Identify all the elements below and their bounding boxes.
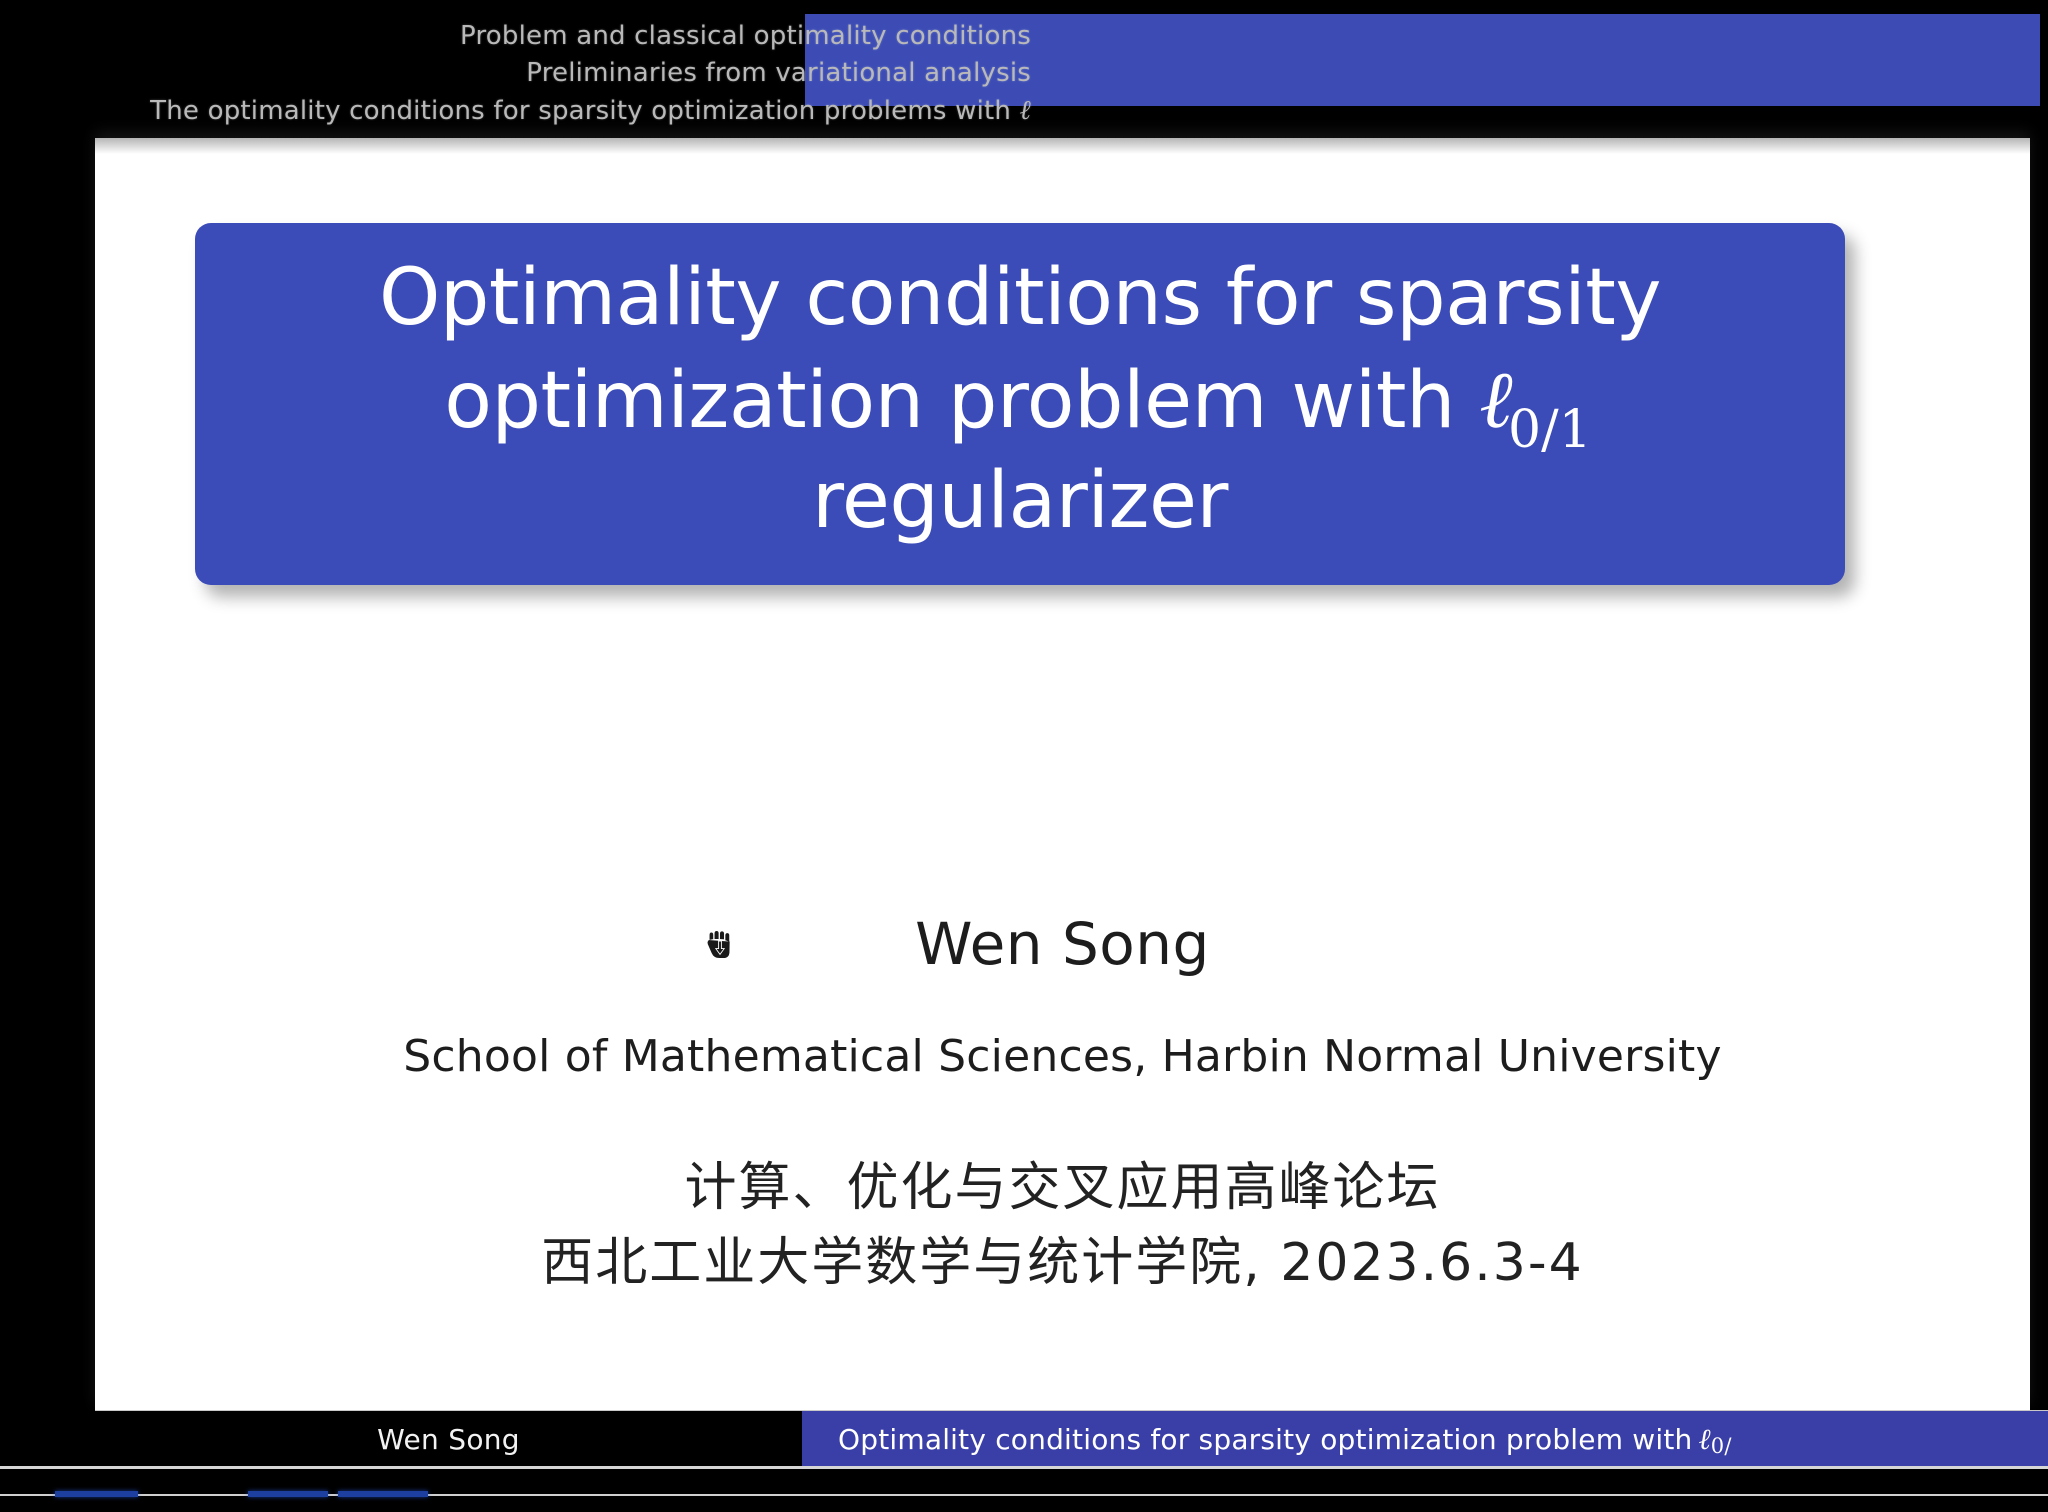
grabbing-hand-cursor-icon — [703, 926, 739, 966]
progress-segment-3[interactable] — [338, 1491, 428, 1497]
footline-bottom-rule — [0, 1466, 2048, 1469]
ell-subscript: 0/1 — [1508, 400, 1592, 460]
title-line-1: Optimality conditions for sparsity — [235, 249, 1805, 349]
footline-author: Wen Song — [95, 1411, 802, 1467]
beamer-navigation-headline: Problem and classical optimality conditi… — [0, 18, 1053, 130]
progress-segment-2[interactable] — [248, 1491, 328, 1497]
slide-progress-strip[interactable] — [0, 1490, 2048, 1500]
beamer-footline: Wen Song Optimality conditions for spars… — [95, 1410, 2048, 1467]
event-name-cn: 计算、优化与交叉应用高峰论坛 — [95, 1145, 2030, 1220]
ell-zero-one-symbol: ℓ0/1 — [1479, 349, 1596, 452]
affiliation-text: School of Mathematical Sciences, Harbin … — [95, 1031, 2030, 1082]
title-line-2-text: optimization problem with — [444, 356, 1479, 446]
slide-title-block: Optimality conditions for sparsity optim… — [195, 223, 1845, 585]
nav-headline-line-1: Problem and classical optimality conditi… — [0, 18, 1053, 55]
venue-and-date-cn: 西北工业大学数学与统计学院, 2023.6.3-4 — [95, 1220, 2030, 1295]
nav-headline-line-3-text: The optimality conditions for sparsity o… — [150, 96, 1019, 126]
presentation-screen-capture: Problem and classical optimality conditi… — [0, 0, 2048, 1512]
title-line-3: regularizer — [235, 452, 1805, 552]
footline-title-text: Optimality conditions for sparsity optim… — [838, 1423, 1692, 1456]
author-name: Wen Song — [95, 910, 2030, 978]
ell-symbol-icon: ℓ — [1020, 95, 1031, 126]
nav-headline-line-3: The optimality conditions for sparsity o… — [0, 92, 1053, 130]
ell-subscript: 0/ — [1711, 1434, 1732, 1458]
footline-title: Optimality conditions for sparsity optim… — [802, 1411, 2048, 1467]
slide-canvas: Optimality conditions for sparsity optim… — [95, 138, 2030, 1410]
title-line-2: optimization problem with ℓ0/1 — [235, 349, 1805, 452]
nav-headline-line-2: Preliminaries from variational analysis — [0, 55, 1053, 92]
ell-symbol-icon: ℓ — [1692, 1422, 1710, 1457]
progress-segment-1[interactable] — [55, 1491, 138, 1497]
